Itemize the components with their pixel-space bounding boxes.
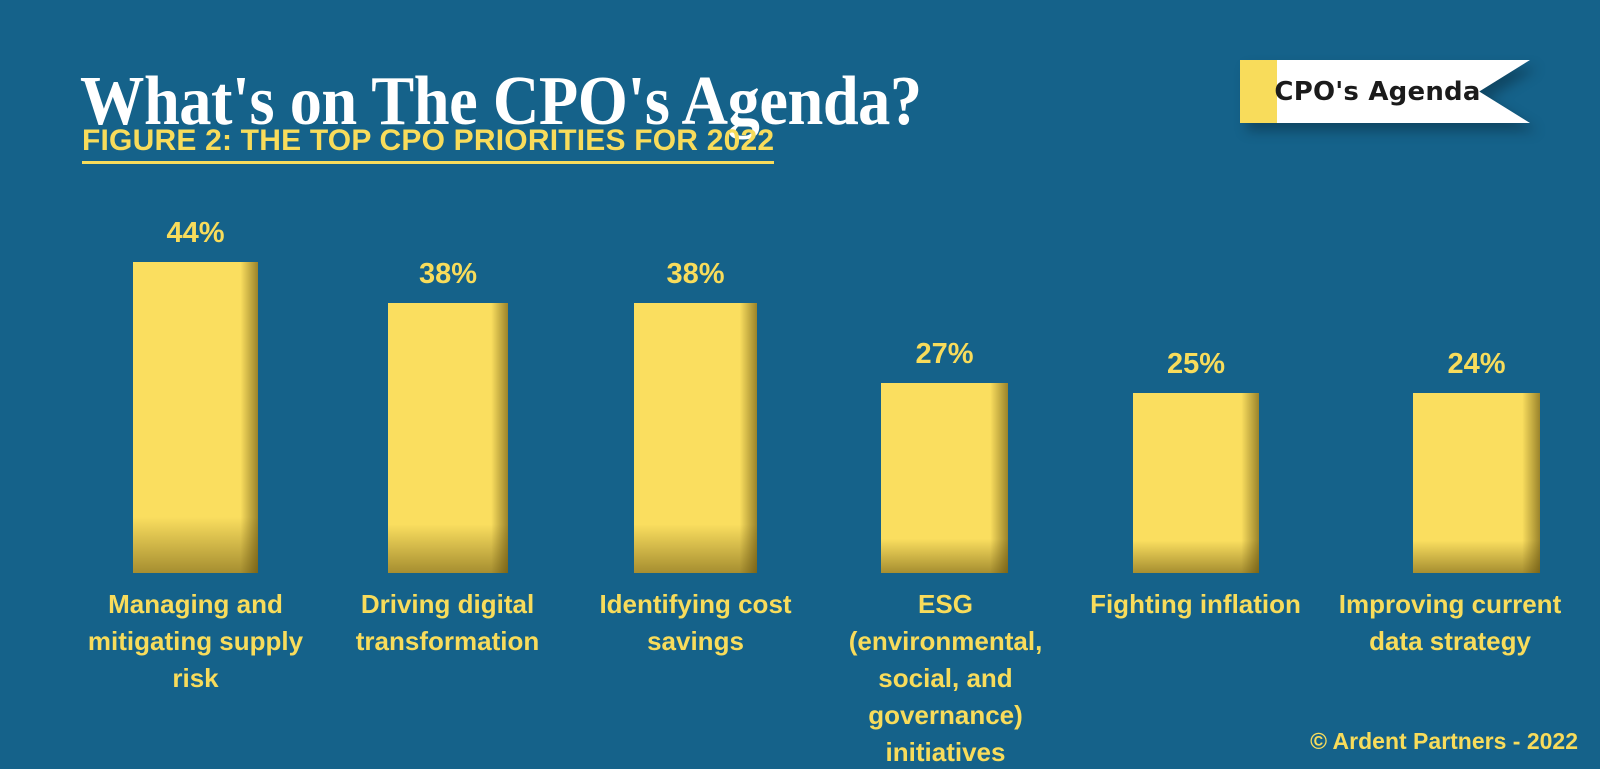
bar-value-label: 24% [1413, 348, 1540, 381]
bar-category-label: Driving digitaltransformation [330, 586, 565, 660]
bar-value-label: 44% [133, 217, 258, 250]
bar-category-label-line: Fighting inflation [1078, 586, 1313, 623]
bar-chart: 44%Managing andmitigating supplyrisk38%D… [0, 0, 1600, 769]
bar [1413, 393, 1540, 573]
bar-category-label: Improving currentdata strategy [1330, 586, 1570, 660]
bar-category-label-line: (environmental, [828, 623, 1063, 660]
bar-category-label: ESG(environmental,social, andgovernance)… [828, 586, 1063, 769]
bar-value-label: 38% [388, 258, 508, 291]
bar [881, 383, 1008, 573]
bar-category-label-line: Improving current [1330, 586, 1570, 623]
bar-category-label-line: Managing and [78, 586, 313, 623]
bar-category-label-line: Identifying cost [578, 586, 813, 623]
bar-category-label: Identifying costsavings [578, 586, 813, 660]
bar-category-label-line: ESG [828, 586, 1063, 623]
bar-category-label-line: data strategy [1330, 623, 1570, 660]
bar-value-label: 25% [1133, 348, 1259, 381]
bar [388, 303, 508, 573]
bar-value-label: 27% [881, 338, 1008, 371]
bar [1133, 393, 1259, 573]
bar [133, 262, 258, 573]
slide-canvas: What's on The CPO's Agenda? FIGURE 2: TH… [0, 0, 1600, 769]
bar-category-label-line: savings [578, 623, 813, 660]
bar-value-label: 38% [634, 258, 757, 291]
bar-category-label: Managing andmitigating supplyrisk [78, 586, 313, 697]
bar-category-label-line: risk [78, 660, 313, 697]
bar-category-label: Fighting inflation [1078, 586, 1313, 623]
copyright-footer: © Ardent Partners - 2022 [1310, 728, 1578, 755]
bar-category-label-line: initiatives [828, 734, 1063, 769]
bar [634, 303, 757, 573]
bar-category-label-line: social, and [828, 660, 1063, 697]
bar-category-label-line: mitigating supply [78, 623, 313, 660]
bar-category-label-line: transformation [330, 623, 565, 660]
bar-category-label-line: governance) [828, 697, 1063, 734]
bar-category-label-line: Driving digital [330, 586, 565, 623]
